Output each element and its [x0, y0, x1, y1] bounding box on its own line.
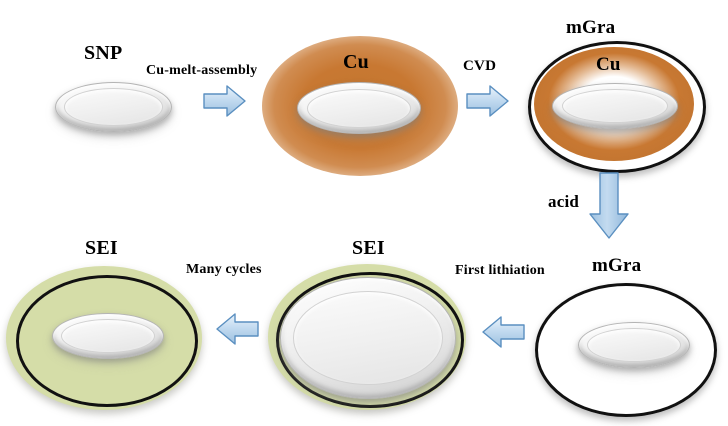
arrow-many-cycles — [215, 312, 259, 346]
particle-snp-in-shell — [552, 83, 678, 129]
label-sei-cycled: SEI — [85, 238, 118, 258]
particle-snp-hollow-shell — [578, 322, 690, 368]
label-mgra-stage4: mGra — [592, 256, 641, 275]
particle-snp-cu — [297, 82, 421, 134]
particle-snp — [55, 82, 172, 132]
label-snp: SNP — [84, 43, 122, 63]
arrow-cu-melt-assembly — [203, 84, 247, 118]
arrow-cvd — [466, 84, 510, 118]
arrow-label-many-cycles: Many cycles — [186, 263, 262, 277]
particle-silicon-expanded — [280, 277, 456, 399]
arrow-label-first-lithiation: First lithiation — [455, 264, 545, 278]
arrow-label-acid: acid — [548, 193, 579, 210]
label-cu-stage2: Cu — [343, 52, 369, 72]
arrow-first-lithiation — [481, 315, 525, 349]
particle-silicon-contracted — [52, 313, 164, 359]
label-cu-stage3: Cu — [596, 55, 621, 74]
label-sei-lithiated: SEI — [352, 238, 385, 258]
label-mgra-stage3: mGra — [566, 18, 615, 37]
arrow-acid — [587, 172, 631, 240]
arrow-label-cu-melt-assembly: Cu-melt-assembly — [146, 64, 257, 78]
arrow-label-cvd: CVD — [463, 59, 496, 74]
figure-canvas: SNP Cu-melt-assembly Cu CVD — [0, 0, 728, 426]
